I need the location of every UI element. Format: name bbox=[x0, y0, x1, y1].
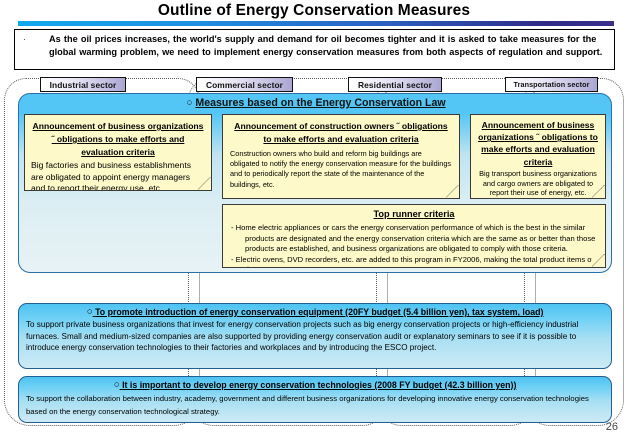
sector-label-text: Residential sector bbox=[358, 80, 432, 90]
note-industrial-obligations: Announcement of business organizations ˝… bbox=[24, 114, 212, 191]
law-panel-header: ○ Measures based on the Energy Conservat… bbox=[19, 97, 613, 109]
note-body: Big transport business organizations and… bbox=[476, 169, 600, 198]
note-body: Construction owners who build and reform… bbox=[230, 149, 452, 190]
develop-panel-title-text: It is important to develop energy conser… bbox=[122, 380, 516, 390]
note-body: - Home electric appliances or cars the e… bbox=[231, 223, 597, 268]
list-item-continuation: the program 21. bbox=[238, 265, 597, 268]
promote-panel-title-text: To promote introduction of energy conser… bbox=[95, 307, 543, 317]
sector-label-residential: Residential sector bbox=[348, 77, 442, 92]
note-title: Announcement of construction owners ˝ ob… bbox=[230, 120, 452, 146]
law-panel-header-text: Measures based on the Energy Conservatio… bbox=[195, 97, 445, 109]
circle-bullet-icon: ○ bbox=[114, 380, 120, 392]
intro-text: As the oil prices increases, the world's… bbox=[49, 33, 609, 58]
slide-canvas: Outline of Energy Conservation Measures … bbox=[0, 0, 628, 435]
intro-bullet-icon: · bbox=[23, 36, 26, 44]
note-title: Announcement of business organizations ˝… bbox=[31, 120, 205, 159]
develop-panel-title: ○ It is important to develop energy cons… bbox=[26, 379, 604, 392]
note-construction-owners-obligations: Announcement of construction owners ˝ ob… bbox=[222, 114, 460, 199]
develop-technologies-panel: ○ It is important to develop energy cons… bbox=[18, 376, 612, 423]
list-item: - Electric ovens, DVD recorders, etc. ar… bbox=[231, 255, 597, 268]
note-transport-obligations: Announcement of business organizations ˝… bbox=[470, 114, 606, 199]
list-item-lead: - Electric ovens, DVD recorders, etc. ar… bbox=[231, 255, 594, 264]
note-top-runner-criteria: Top runner criteria - Home electric appl… bbox=[222, 204, 606, 268]
circle-bullet-icon: ○ bbox=[186, 98, 192, 109]
promote-equipment-panel: ○ To promote introduction of energy cons… bbox=[18, 303, 612, 369]
note-body: Big factories and business establishment… bbox=[31, 160, 205, 191]
title-divider-rule bbox=[18, 21, 614, 26]
sector-label-transportation: Transportation sector bbox=[505, 77, 598, 92]
note-title: Announcement of business organizations ˝… bbox=[476, 119, 600, 168]
folded-corner-icon bbox=[446, 185, 459, 198]
sector-label-industrial: Industrial sector bbox=[40, 77, 126, 92]
folded-corner-icon bbox=[198, 177, 211, 190]
list-item-continuation: products are designated and the energy c… bbox=[238, 234, 597, 255]
folded-corner-icon bbox=[592, 254, 605, 267]
develop-panel-body: To support the collaboration between ind… bbox=[26, 392, 604, 418]
page-number: 26 bbox=[606, 421, 618, 433]
list-item-lead: - Home electric appliances or cars the e… bbox=[231, 223, 585, 232]
list-item: - Home electric appliances or cars the e… bbox=[231, 223, 597, 255]
sector-label-text: Industrial sector bbox=[50, 80, 117, 90]
page-title: Outline of Energy Conservation Measures bbox=[0, 2, 628, 20]
circle-bullet-icon: ○ bbox=[87, 307, 93, 319]
promote-panel-body: To support private business organization… bbox=[26, 319, 604, 354]
sector-label-commercial: Commercial sector bbox=[196, 77, 293, 92]
intro-box: · As the oil prices increases, the world… bbox=[14, 29, 615, 70]
note-title: Top runner criteria bbox=[231, 208, 597, 221]
promote-panel-title: ○ To promote introduction of energy cons… bbox=[26, 306, 604, 319]
sector-label-text: Commercial sector bbox=[206, 80, 283, 90]
sector-label-text: Transportation sector bbox=[514, 80, 590, 89]
folded-corner-icon bbox=[592, 185, 605, 198]
